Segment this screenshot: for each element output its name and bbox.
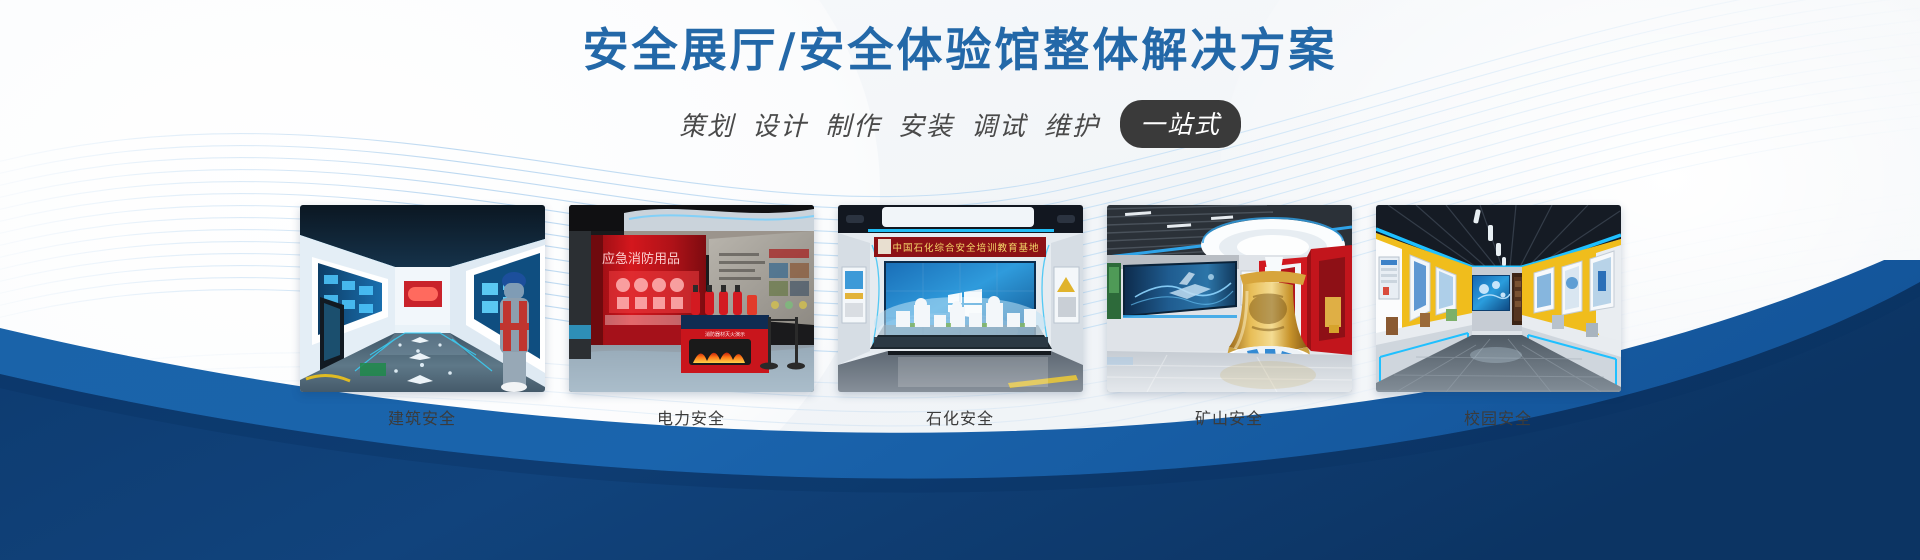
page-title: 安全展厅/安全体验馆整体解决方案 (0, 22, 1920, 80)
gallery-caption-petrochemical: 石化安全 (926, 405, 994, 429)
thumbnail-image-power[interactable]: 应急消防用品 (569, 205, 814, 392)
gallery-caption-campus: 校园安全 (1464, 405, 1532, 429)
banner-title-block: 安全展厅/安全体验馆整体解决方案 (0, 22, 1920, 80)
gallery-caption-construction: 建筑安全 (388, 405, 456, 429)
gallery-item-power[interactable]: 应急消防用品 (569, 205, 814, 429)
service-steps: 策划 设计 制作 安装 调试 维护 一站式 (0, 100, 1920, 148)
showcase-gallery: 建筑安全 (0, 205, 1920, 429)
thumbnail-image-campus[interactable] (1376, 205, 1621, 392)
service-step-4: 调试 (971, 106, 1027, 143)
service-step-0: 策划 (679, 106, 735, 143)
svg-text:应急消防用品: 应急消防用品 (601, 251, 679, 267)
gallery-item-campus[interactable]: 校园安全 (1376, 205, 1621, 429)
gallery-item-mining[interactable]: 矿山安全 (1107, 205, 1352, 429)
svg-text:消防器材灭火演示: 消防器材灭火演示 (704, 331, 744, 338)
gallery-item-construction[interactable]: 建筑安全 (300, 205, 545, 429)
service-step-3: 安装 (898, 106, 954, 143)
promo-banner: 安全展厅/安全体验馆整体解决方案 策划 设计 制作 安装 调试 维护 一站式 (0, 0, 1920, 560)
one-stop-badge: 一站式 (1120, 100, 1241, 148)
svg-text:中国石化综合安全培训教育基地: 中国石化综合安全培训教育基地 (892, 242, 1039, 254)
service-step-1: 设计 (752, 106, 808, 143)
gallery-caption-power: 电力安全 (657, 405, 725, 429)
thumbnail-image-construction[interactable] (300, 205, 545, 392)
gallery-caption-mining: 矿山安全 (1195, 405, 1263, 429)
service-step-2: 制作 (825, 106, 881, 143)
thumbnail-image-petrochemical[interactable]: 中国石化综合安全培训教育基地 (838, 205, 1083, 392)
gallery-item-petrochemical[interactable]: 中国石化综合安全培训教育基地 (838, 205, 1083, 429)
thumbnail-image-mining[interactable] (1107, 205, 1352, 392)
service-step-5: 维护 (1044, 106, 1100, 143)
